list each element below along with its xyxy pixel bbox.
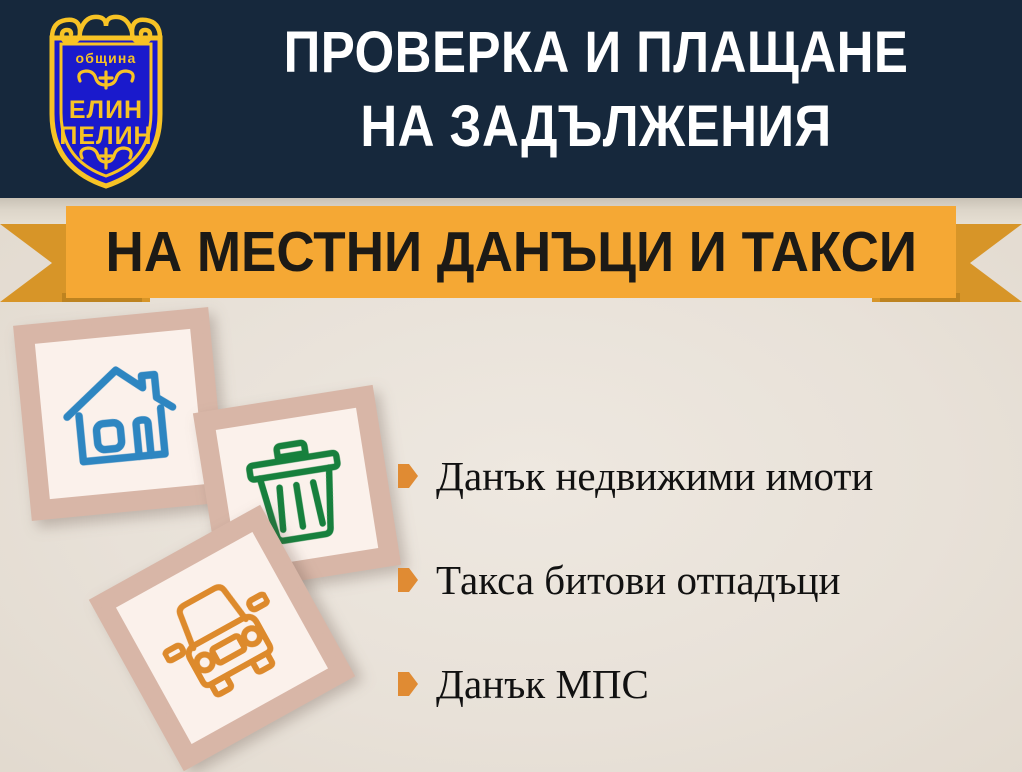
car-icon: [144, 563, 300, 714]
logo-municipality-word: община: [75, 50, 136, 66]
list-item-label: Данък недвижими имоти: [436, 453, 873, 499]
bullet-arrow-icon: [398, 568, 418, 592]
list-item-label: Такса битови отпадъци: [436, 557, 840, 603]
municipality-logo: община ЕЛИН ПЕЛИН: [32, 8, 180, 190]
poster: община ЕЛИН ПЕЛИН ПРОВЕРКА И ПЛАЩАНЕ НА …: [0, 0, 1022, 772]
subtitle-ribbon: НА МЕСТНИ ДАНЪЦИ И ТАКСИ: [0, 198, 1022, 308]
ribbon-subtitle: НА МЕСТНИ ДАНЪЦИ И ТАКСИ: [105, 224, 916, 281]
page-title-line-2: НА ЗАДЪЛЖЕНИЯ: [235, 90, 957, 164]
page-title-line-1: ПРОВЕРКА И ПЛАЩАНЕ: [235, 16, 957, 90]
stamp-inner-area: [35, 329, 205, 499]
list-item[interactable]: Данък недвижими имоти: [398, 424, 1008, 528]
ribbon-body: НА МЕСТНИ ДАНЪЦИ И ТАКСИ: [66, 206, 956, 298]
logo-name-line-1: ЕЛИН: [69, 96, 143, 124]
bullet-arrow-icon: [398, 464, 418, 488]
logo-name-line-2: ПЕЛИН: [59, 122, 152, 150]
list-item[interactable]: Такса битови отпадъци: [398, 528, 1008, 632]
list-item[interactable]: Данък МПС: [398, 632, 1008, 736]
house-icon: [56, 355, 184, 474]
services-list: Данък недвижими имоти Такса битови отпад…: [398, 424, 1008, 736]
bullet-arrow-icon: [398, 672, 418, 696]
header-bar: община ЕЛИН ПЕЛИН ПРОВЕРКА И ПЛАЩАНЕ НА …: [0, 0, 1022, 198]
header-title-block: ПРОВЕРКА И ПЛАЩАНЕ НА ЗАДЪЛЖЕНИЯ: [186, 16, 1006, 164]
list-item-label: Данък МПС: [436, 661, 649, 707]
